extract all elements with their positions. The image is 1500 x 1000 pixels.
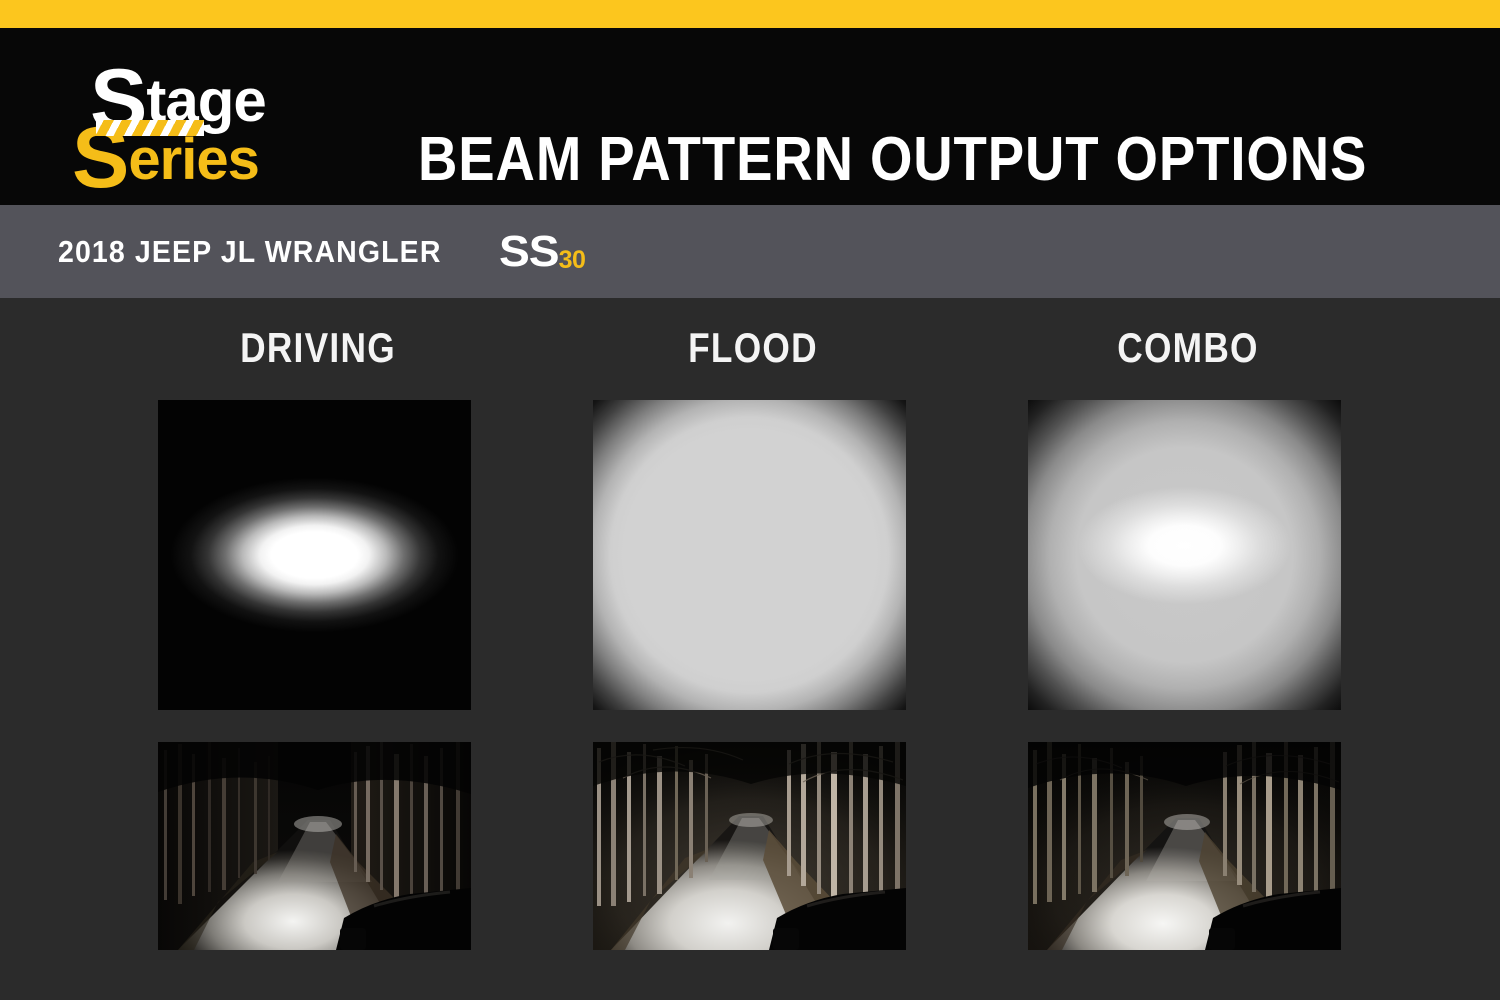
column-title-driving: DRIVING — [184, 324, 453, 372]
column-title-flood: FLOOD — [619, 324, 888, 372]
model-badge: SS 30 — [499, 227, 586, 277]
stage-series-logo: Stage Series — [72, 64, 332, 182]
top-accent-strip — [0, 0, 1500, 28]
page-title: BEAM PATTERN OUTPUT OPTIONS — [418, 124, 1367, 195]
road-photo-combo — [1028, 742, 1341, 950]
logo-series-rest: eries — [128, 127, 258, 192]
road-photo-combo-art — [1028, 742, 1341, 950]
header-bar: Stage Series BEAM PATTERN OUTPUT OPTIONS — [0, 28, 1500, 205]
beam-pattern-driving — [158, 400, 471, 710]
beam-pattern-flood — [593, 400, 906, 710]
road-photo-driving — [158, 742, 471, 950]
road-photo-flood — [593, 742, 906, 950]
road-photo-flood-art — [593, 742, 906, 950]
beam-pattern-combo — [1028, 400, 1341, 710]
model-number: 30 — [559, 246, 586, 275]
beam-pattern-infographic: Stage Series BEAM PATTERN OUTPUT OPTIONS… — [0, 0, 1500, 1000]
model-prefix: SS — [499, 227, 559, 277]
road-photo-driving-art — [158, 742, 471, 950]
logo-hazard-stripes-icon — [96, 120, 204, 136]
subheader-content: 2018 JEEP JL WRANGLER SS 30 — [58, 205, 585, 298]
subheader-bar: 2018 JEEP JL WRANGLER SS 30 — [0, 205, 1500, 298]
comparison-grid: DRIVING — [0, 298, 1500, 1000]
column-title-combo: COMBO — [1054, 324, 1323, 372]
vehicle-label: 2018 JEEP JL WRANGLER — [58, 234, 442, 270]
